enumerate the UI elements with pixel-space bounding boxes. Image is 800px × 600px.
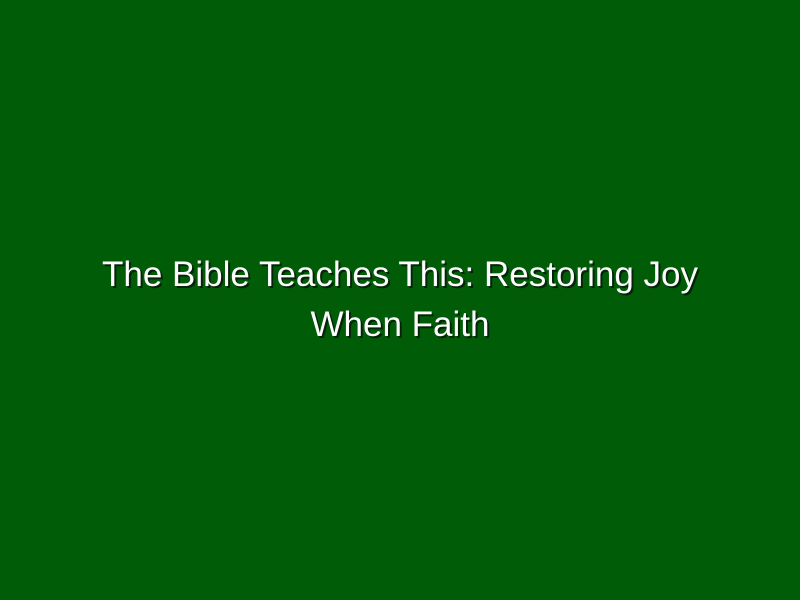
- title-banner: The Bible Teaches This: Restoring Joy Wh…: [0, 0, 800, 600]
- title-block: The Bible Teaches This: Restoring Joy Wh…: [0, 250, 800, 350]
- banner-title: The Bible Teaches This: Restoring Joy Wh…: [62, 250, 738, 350]
